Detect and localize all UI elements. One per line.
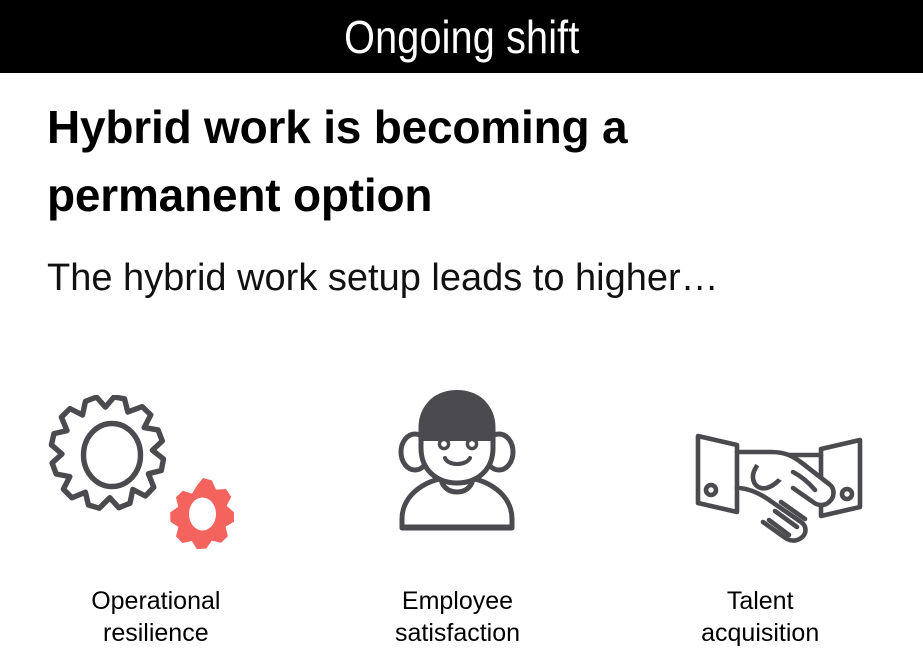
slide: Ongoing shift Hybrid work is becoming a …	[0, 0, 923, 659]
person-smiling-icon	[382, 378, 532, 553]
header-eyebrow-text: Ongoing shift	[344, 14, 579, 60]
benefits-row: Operational resilience	[0, 378, 923, 649]
benefit-label-operational-resilience: Operational resilience	[91, 586, 220, 649]
person-smiling-icon-svg	[382, 378, 532, 553]
page-subtitle: The hybrid work setup leads to higher…	[47, 256, 719, 302]
benefit-item-operational-resilience: Operational resilience	[0, 378, 308, 649]
handshake-icon	[689, 378, 869, 553]
title-block: Hybrid work is becoming a permanent opti…	[47, 94, 887, 229]
gears-icon-svg	[48, 395, 248, 553]
handshake-icon-svg	[689, 428, 869, 553]
benefit-item-talent-acquisition: Talent acquisition	[615, 378, 923, 649]
benefit-label-talent-acquisition: Talent acquisition	[701, 586, 819, 649]
page-title: Hybrid work is becoming a permanent opti…	[47, 94, 767, 229]
gears-icon	[48, 378, 248, 553]
header-bar: Ongoing shift	[0, 0, 923, 73]
benefit-label-employee-satisfaction: Employee satisfaction	[395, 586, 520, 649]
benefit-item-employee-satisfaction: Employee satisfaction	[308, 378, 616, 649]
